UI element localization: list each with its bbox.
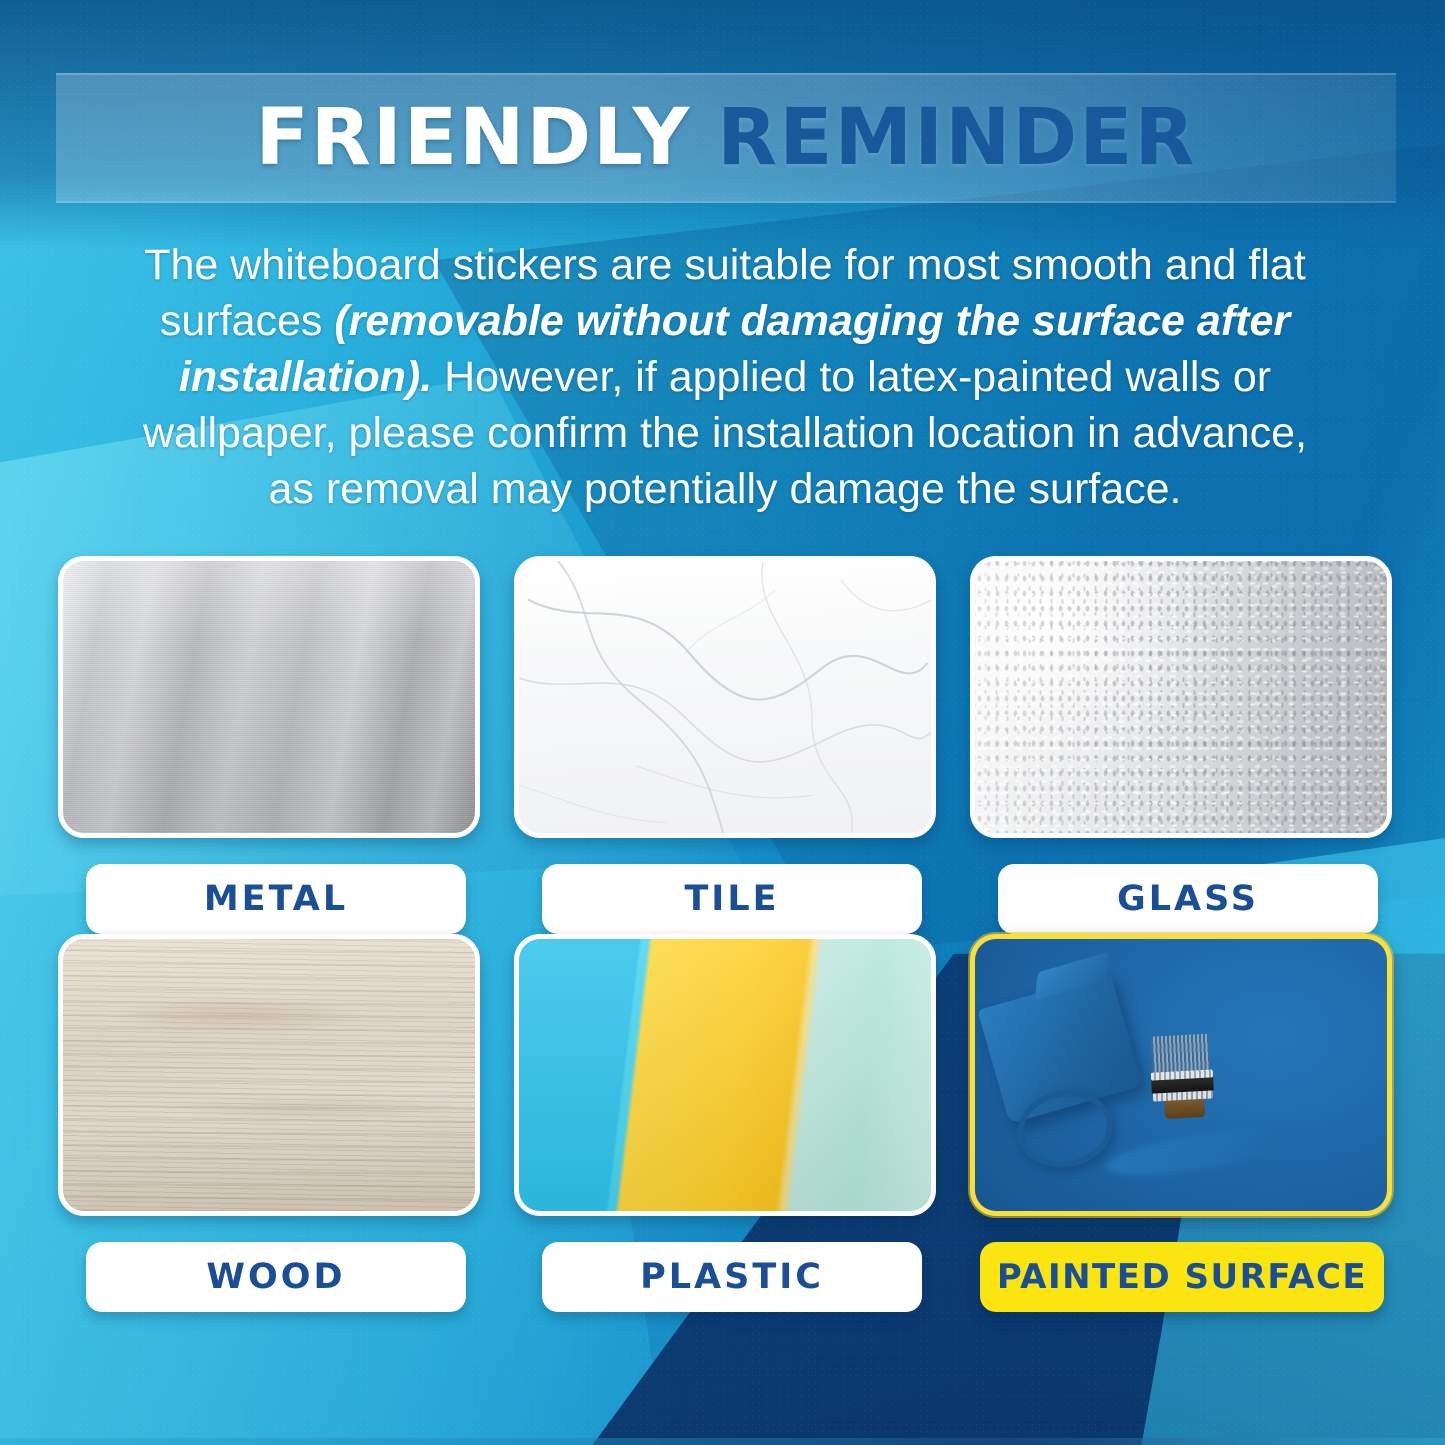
paint-brush-icon (1151, 1033, 1215, 1119)
surface-item-metal[interactable]: METAL (58, 556, 480, 934)
brush-handle (1164, 1099, 1205, 1119)
surface-label-text-wood: WOOD (206, 1257, 345, 1297)
surface-item-painted-surface[interactable]: PAINTED SURFACE (970, 934, 1392, 1312)
surface-label-text-tile: TILE (684, 879, 779, 919)
surface-card-wood[interactable] (58, 934, 480, 1216)
title-word-friendly: FRIENDLY (255, 93, 691, 183)
surface-label-pill-metal[interactable]: METAL (86, 864, 466, 934)
metal-texture-swatch (63, 561, 475, 833)
surface-card-metal[interactable] (58, 556, 480, 838)
infographic-page: FRIENDLY REMINDER The whiteboard sticker… (0, 0, 1445, 1445)
surface-label-pill-tile[interactable]: TILE (542, 864, 922, 934)
plastic-texture-swatch (519, 939, 931, 1211)
header-banner: FRIENDLY REMINDER (56, 73, 1396, 203)
surface-item-tile[interactable]: TILE (514, 556, 936, 934)
background-bottom-rule (0, 1438, 1445, 1445)
surface-item-glass[interactable]: GLASS (970, 556, 1392, 934)
surface-card-painted-surface[interactable] (970, 934, 1392, 1216)
paint-swipe-shadow (1104, 1120, 1297, 1183)
surface-card-glass[interactable] (970, 556, 1392, 838)
wood-texture-swatch (63, 939, 475, 1211)
surface-label-pill-wood[interactable]: WOOD (86, 1242, 466, 1312)
surface-item-wood[interactable]: WOOD (58, 934, 480, 1312)
surface-card-plastic[interactable] (514, 934, 936, 1216)
body-paragraph: The whiteboard stickers are suitable for… (120, 238, 1330, 517)
brush-bristles (1151, 1034, 1211, 1073)
marble-veins-icon (519, 561, 931, 836)
glass-texture-swatch (975, 561, 1387, 833)
surface-label-text-glass: GLASS (1117, 879, 1259, 919)
surface-row-bottom: WOOD PLASTIC (58, 934, 1392, 1312)
surface-row-top: METAL (58, 556, 1392, 934)
surface-label-pill-glass[interactable]: GLASS (998, 864, 1378, 934)
surface-card-tile[interactable] (514, 556, 936, 838)
surface-label-pill-plastic[interactable]: PLASTIC (542, 1242, 922, 1312)
painted-wall-texture-swatch (975, 939, 1387, 1211)
surface-label-text-painted-surface: PAINTED SURFACE (997, 1257, 1367, 1297)
page-title: FRIENDLY REMINDER (56, 75, 1396, 201)
surface-label-text-plastic: PLASTIC (640, 1257, 824, 1297)
title-word-reminder: REMINDER (717, 93, 1196, 183)
surface-cards-grid: METAL (58, 556, 1392, 1312)
surface-item-plastic[interactable]: PLASTIC (514, 934, 936, 1312)
tile-texture-swatch (519, 561, 931, 833)
surface-label-text-metal: METAL (204, 879, 348, 919)
surface-label-pill-painted-surface[interactable]: PAINTED SURFACE (980, 1242, 1384, 1312)
